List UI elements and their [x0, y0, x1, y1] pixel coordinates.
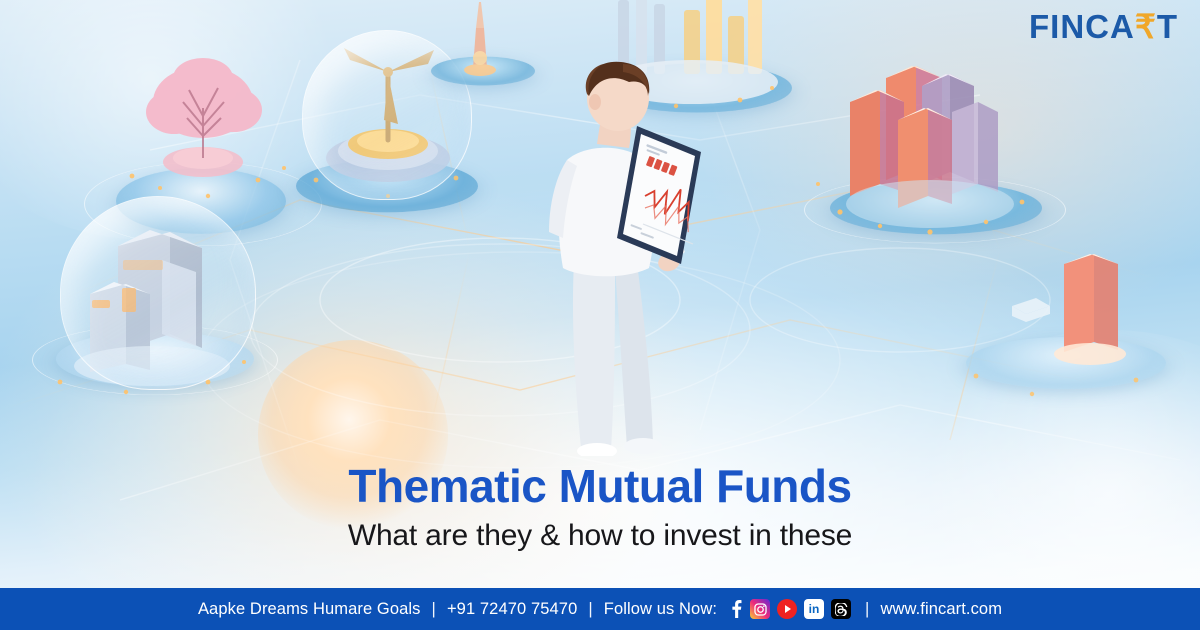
tower-graphic — [940, 230, 1190, 430]
logo-rupee-icon: ₹ — [1135, 8, 1157, 45]
follow-us-label: Follow us Now: — [604, 600, 717, 619]
footer-separator-3: | — [863, 600, 871, 619]
skyline-graphic — [800, 16, 1070, 256]
linkedin-icon[interactable]: in — [804, 599, 824, 619]
footer-separator-1: | — [430, 600, 438, 619]
headline-block: Thematic Mutual Funds What are they & ho… — [0, 462, 1200, 553]
glass-dome — [60, 196, 256, 390]
footer-phone[interactable]: +91 72470 75470 — [447, 600, 577, 619]
fincart-logo[interactable]: FINCA₹T — [1029, 10, 1178, 43]
youtube-icon[interactable] — [777, 599, 797, 619]
city-skyline-island — [800, 16, 1070, 256]
single-tower-island — [940, 230, 1190, 430]
poster-canvas: FINCA₹T Thematic Mutual Funds What are t… — [0, 0, 1200, 630]
facebook-icon[interactable] — [729, 599, 743, 619]
page-subtitle: What are they & how to invest in these — [0, 519, 1200, 553]
footer-bar: Aapke Dreams Humare Goals | +91 72470 75… — [0, 588, 1200, 630]
person-with-tablet — [519, 56, 709, 456]
footer-website[interactable]: www.fincart.com — [880, 600, 1002, 619]
glass-tower-dome-island — [30, 176, 280, 406]
page-title: Thematic Mutual Funds — [0, 462, 1200, 510]
logo-text-part1: FINCA — [1029, 8, 1135, 45]
logo-text-part2: T — [1157, 8, 1178, 45]
threads-icon[interactable] — [831, 599, 851, 619]
social-icons: in — [729, 599, 851, 619]
instagram-icon[interactable] — [750, 599, 770, 619]
footer-tagline: Aapke Dreams Humare Goals — [198, 600, 421, 619]
person-graphic — [519, 56, 709, 456]
footer-separator-2: | — [586, 600, 594, 619]
